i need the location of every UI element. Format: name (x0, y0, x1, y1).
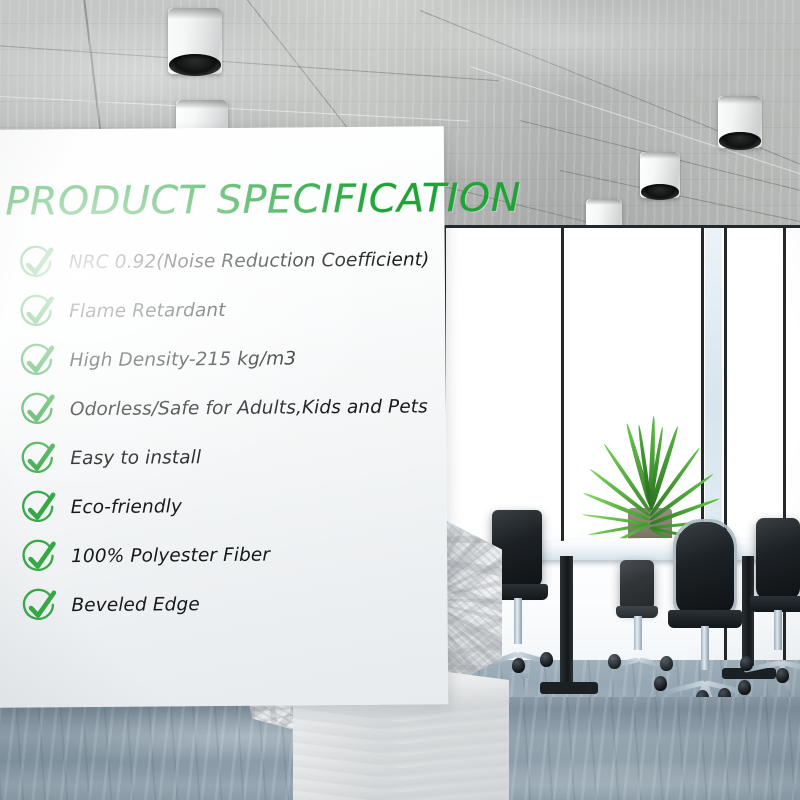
list-item-label: Beveled Edge (71, 594, 199, 616)
list-item: Beveled Edge (0, 579, 448, 632)
table-leg (560, 556, 573, 688)
chair-post (774, 610, 782, 650)
list-item: NRC 0.92(Noise Reduction Coefficient) (0, 236, 445, 289)
chair-caster (776, 668, 789, 683)
office-chair-center (676, 522, 734, 614)
check-circle-icon (18, 440, 58, 480)
check-circle-icon (19, 538, 59, 578)
list-item-label: 100% Polyester Fiber (71, 545, 270, 568)
list-item-label: Odorless/Safe for Adults,Kids and Pets (70, 396, 428, 420)
check-circle-icon (17, 244, 57, 284)
window-mullion (783, 225, 786, 705)
chair-caster (540, 652, 553, 667)
chair-caster (740, 656, 753, 671)
product-image-stage: PRODUCT SPECIFICATION NRC 0.92(Noise Red… (0, 0, 800, 800)
downlight-1 (168, 8, 222, 74)
list-item: High Density-215 kg/m3 (0, 334, 446, 387)
downlight-rim (641, 184, 679, 200)
ceiling-crack (83, 0, 103, 145)
office-chair-far-right (620, 560, 654, 610)
window-mullion-top (443, 225, 800, 228)
chair-base (612, 646, 666, 668)
downlight-top-shadow (718, 96, 762, 104)
list-item-label: Easy to install (70, 447, 201, 469)
downlight-top-shadow (176, 100, 228, 109)
list-item: Odorless/Safe for Adults,Kids and Pets (0, 383, 446, 436)
downlight-rim (169, 54, 221, 76)
downlight-top-shadow (640, 152, 680, 159)
downlight-3 (718, 96, 762, 148)
chair-post (634, 616, 642, 650)
check-circle-icon (19, 489, 59, 529)
list-item: Flame Retardant (0, 285, 445, 338)
downlight-body (168, 8, 222, 74)
check-circle-icon (18, 391, 58, 431)
list-item: 100% Polyester Fiber (0, 530, 447, 583)
chair-caster (654, 676, 667, 691)
chair-caster (512, 658, 525, 673)
chair-caster (608, 654, 621, 669)
list-item-label: Eco-friendly (71, 496, 182, 518)
chair-caster (738, 680, 751, 695)
chair-back (620, 560, 654, 610)
chair-base (660, 664, 750, 696)
downlight-top-shadow (168, 8, 222, 19)
check-circle-icon (17, 293, 57, 333)
list-item-label: NRC 0.92(Noise Reduction Coefficient) (69, 249, 430, 273)
ceiling-seam (0, 96, 469, 122)
check-circle-icon (19, 587, 59, 627)
downlight-4 (640, 152, 680, 198)
chair-back (756, 518, 800, 600)
specification-list: NRC 0.92(Noise Reduction Coefficient) Fl… (0, 236, 448, 632)
downlight-top-shadow (586, 199, 622, 205)
chair-base (744, 646, 800, 674)
product-specification-panel: PRODUCT SPECIFICATION NRC 0.92(Noise Red… (0, 126, 448, 708)
list-item-label: Flame Retardant (69, 300, 226, 322)
chair-caster (660, 656, 673, 671)
office-chair-right (756, 518, 800, 600)
downlight-body (640, 152, 680, 198)
ceiling-seam (0, 44, 499, 81)
table-foot (540, 682, 598, 694)
list-item-label: High Density-215 kg/m3 (69, 348, 296, 371)
page-title: PRODUCT SPECIFICATION (5, 176, 521, 225)
list-item: Eco-friendly (0, 481, 447, 534)
chair-frame (673, 519, 737, 617)
check-circle-icon (17, 342, 57, 382)
downlight-body (718, 96, 762, 148)
list-item: Easy to install (0, 432, 447, 485)
downlight-rim (719, 132, 761, 150)
